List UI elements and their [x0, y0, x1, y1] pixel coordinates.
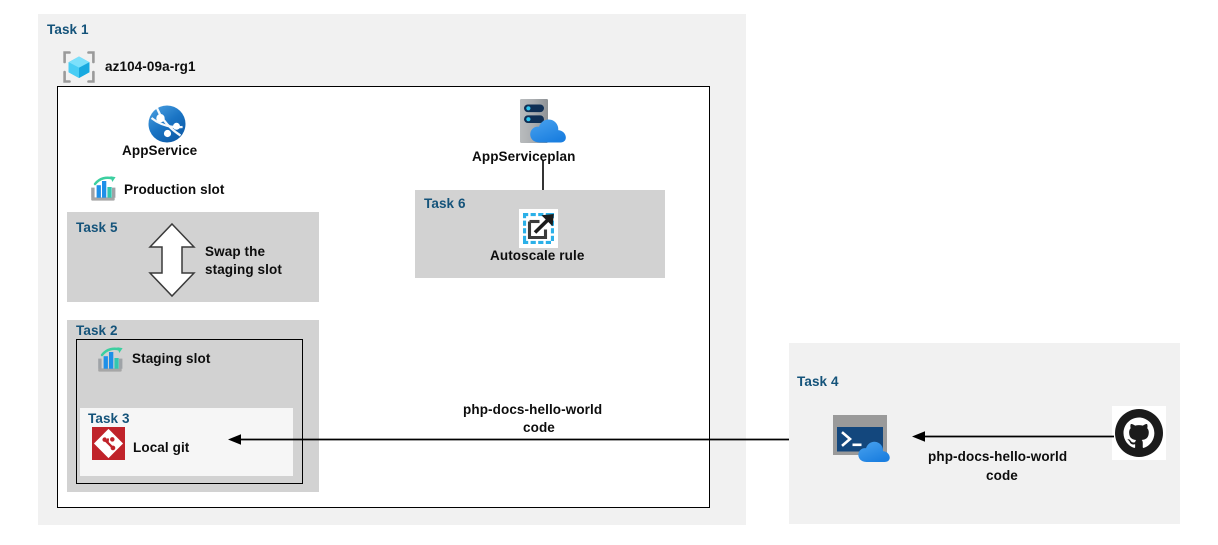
autoscale-rule-name: Autoscale rule	[490, 248, 584, 263]
task4-label: Task 4	[797, 374, 839, 389]
github-icon	[1112, 406, 1166, 460]
deployment-slot-icon-staging	[95, 346, 126, 376]
resource-group-icon	[60, 48, 98, 86]
center-flow-label-line1: php-docs-hello-world	[463, 402, 602, 417]
production-slot-name: Production slot	[124, 182, 225, 197]
github-to-cloudshell-arrow	[912, 428, 1114, 446]
git-icon	[92, 427, 125, 460]
deployment-slot-icon-production	[88, 175, 119, 205]
swap-label-line2: staging slot	[205, 262, 282, 279]
task5-label: Task 5	[76, 220, 118, 235]
resource-group-name: az104-09a-rg1	[105, 59, 196, 74]
app-service-plan-name: AppServiceplan	[472, 149, 575, 164]
task4-transfer-label-line2: code	[986, 468, 1018, 483]
task3-label: Task 3	[88, 411, 130, 426]
app-service-name: AppService	[122, 143, 197, 158]
app-service-plan-icon	[511, 98, 574, 150]
swap-up-down-arrow-icon	[146, 222, 198, 298]
task2-label: Task 2	[76, 323, 118, 338]
task1-label: Task 1	[47, 22, 89, 37]
local-git-name: Local git	[133, 440, 189, 455]
task4-transfer-label-line1: php-docs-hello-world	[928, 449, 1067, 464]
cloud-shell-icon	[833, 415, 903, 463]
diagram-canvas: Task 1 az104-09a-rg1	[0, 0, 1218, 545]
task6-label: Task 6	[424, 196, 466, 211]
autoscale-icon	[519, 209, 558, 248]
app-service-icon	[147, 104, 187, 144]
staging-slot-name: Staging slot	[132, 351, 210, 366]
swap-label-line1: Swap the	[205, 244, 265, 261]
cloudshell-to-localgit-arrow	[228, 431, 818, 449]
